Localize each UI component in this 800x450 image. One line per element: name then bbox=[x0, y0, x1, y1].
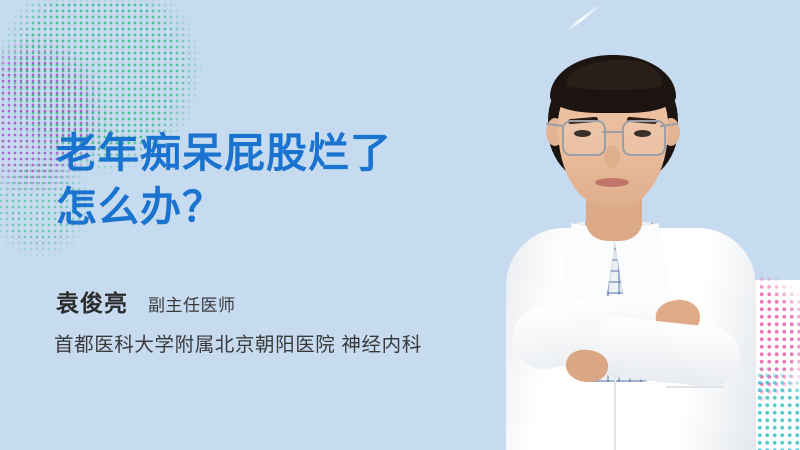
doctor-name: 袁俊亮 bbox=[56, 284, 128, 318]
medical-qa-poster: 老年痴呆屁股烂了 怎么办？ 袁俊亮 副主任医师 首都医科大学附属北京朝阳医院 神… bbox=[0, 0, 800, 450]
doctor-affiliation: 首都医科大学附属北京朝阳医院 神经内科 bbox=[54, 328, 422, 357]
byline: 袁俊亮 副主任医师 bbox=[56, 284, 236, 318]
nose bbox=[604, 146, 620, 168]
headline-line-2: 怎么办？ bbox=[56, 180, 526, 234]
headline-line-1: 老年痴呆屁股烂了 bbox=[56, 126, 526, 180]
doctor-rank: 副主任医师 bbox=[148, 291, 236, 316]
eyeglasses-lens-left bbox=[562, 120, 606, 156]
mouth bbox=[595, 178, 629, 187]
headline-block: 老年痴呆屁股烂了 怎么办？ bbox=[56, 126, 526, 234]
eyeglasses-bridge bbox=[602, 131, 622, 133]
